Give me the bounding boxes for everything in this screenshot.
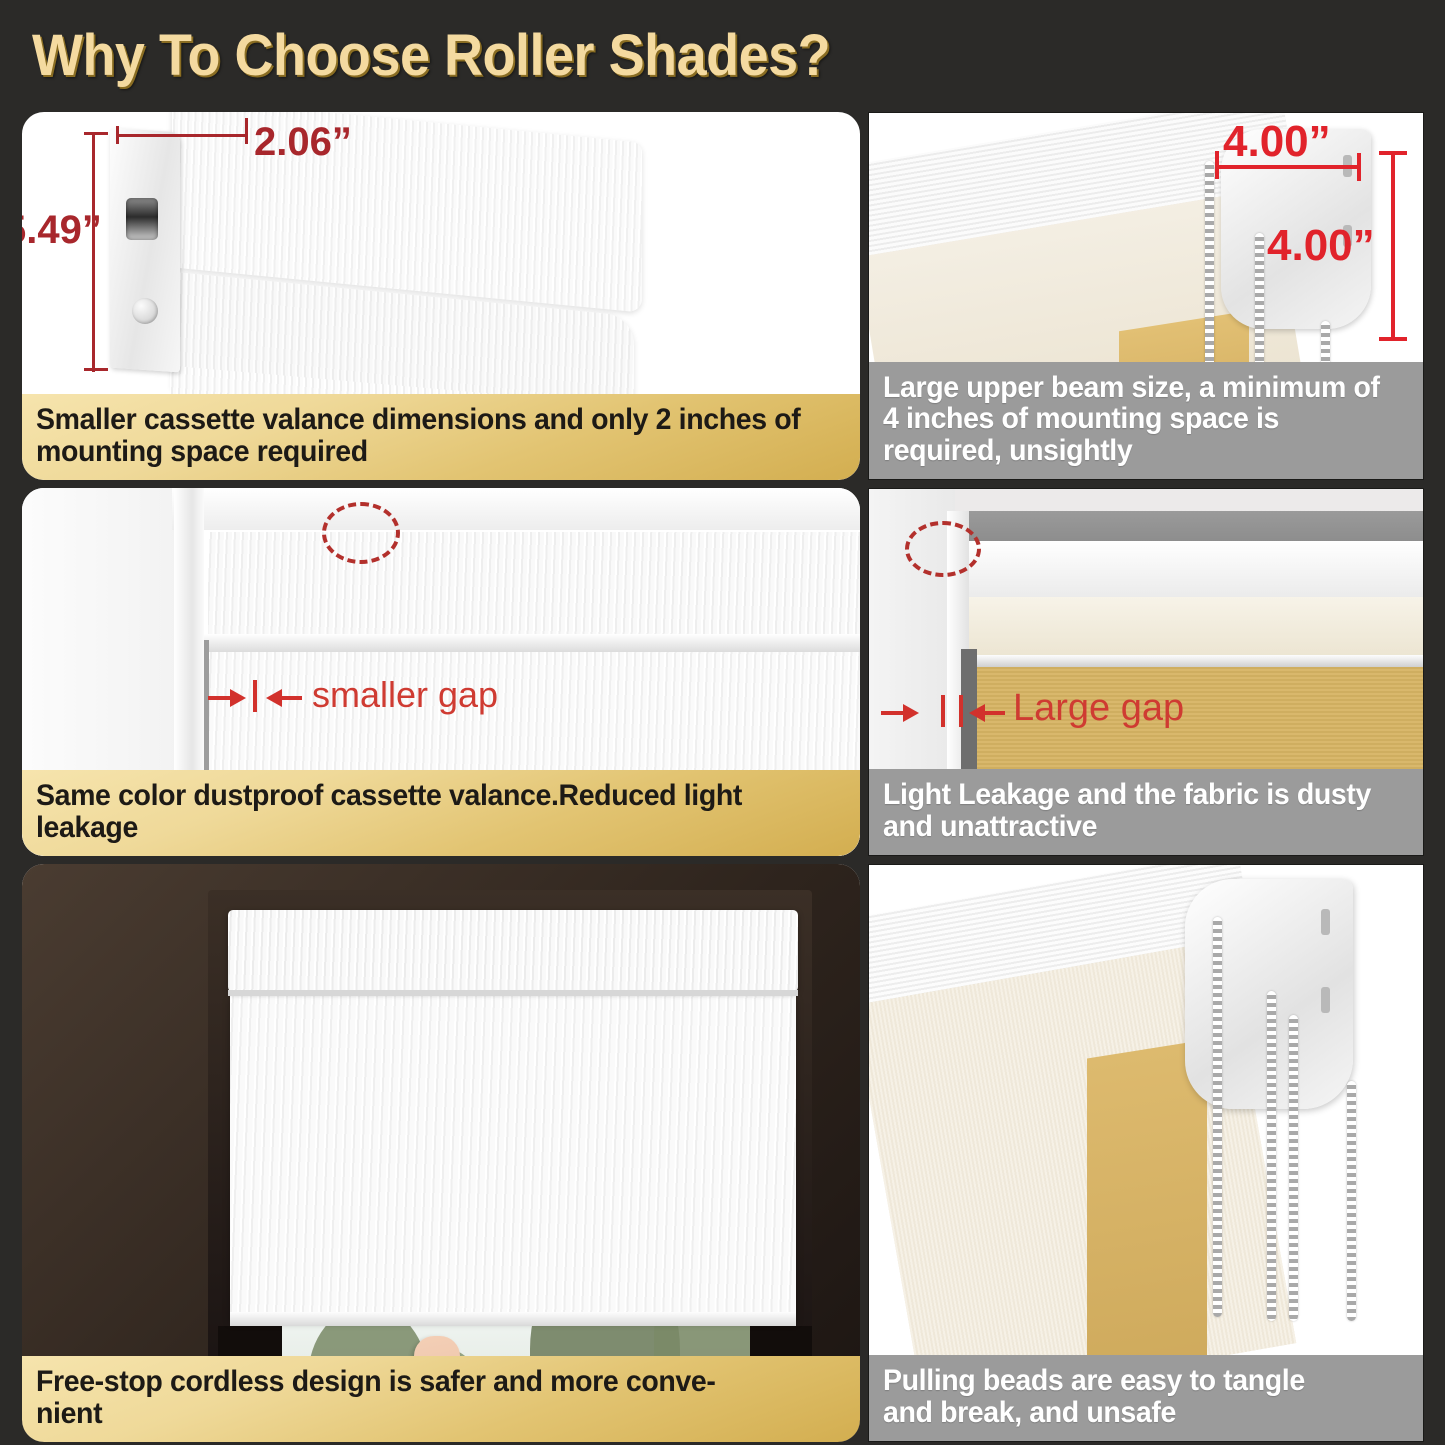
panel-3-caption: Same color dustproof cassette valance.Re…: [22, 770, 860, 856]
white-valance-band: [965, 541, 1423, 603]
width-dimension-line: [116, 134, 248, 137]
window-head-frame: [172, 488, 860, 530]
gap-marker-bar-b: [959, 695, 963, 727]
gap-arrow-right-stem: [280, 696, 302, 700]
width-dim-tick-right: [245, 118, 248, 144]
panel-5-caption-line-1: Free-stop cordless design is safer and m…: [36, 1366, 806, 1398]
gap-arrow-left-stem: [208, 696, 232, 700]
panel-light-leakage: Large gap Light Leakage and the fabric i…: [868, 488, 1424, 856]
cassette-valance-band: [208, 532, 860, 636]
panel-cordless-design: Free-stop cordless design is safer and m…: [22, 864, 860, 1442]
panel-dustproof-valance: smaller gap Same color dustproof cassett…: [22, 488, 860, 856]
page-title: Why To Choose Roller Shades?: [32, 22, 830, 89]
panel-3-caption-text: Same color dustproof cassette valance.Re…: [36, 780, 806, 844]
height-dimension-label: 5.49”: [22, 208, 102, 253]
highlight-circle-icon: [322, 502, 400, 564]
valance-rail: [204, 634, 860, 652]
panel-6-caption: Pulling beads are easy to tangle and bre…: [869, 1355, 1423, 1441]
gap-marker-bar: [253, 680, 257, 712]
comparison-grid: 2.06” 5.49” Smaller cassette valance dim…: [22, 112, 1424, 1432]
gap-marker-bar-a: [941, 695, 945, 727]
panel-2-caption: Large upper beam size, a minimum of 4 in…: [869, 362, 1423, 479]
beam-width-tick-right: [1357, 153, 1361, 181]
panel-5-caption-line-2: nient: [36, 1398, 806, 1430]
panel-6-caption-line-1: Pulling beads are easy to tangle: [883, 1365, 1383, 1397]
beam-height-tick-bottom: [1379, 337, 1407, 341]
gap-arrow-left-head: [903, 704, 919, 722]
highlight-circle-icon: [905, 521, 981, 577]
large-gap-label: Large gap: [1013, 687, 1184, 730]
bracket-screw: [132, 298, 158, 324]
bracket-notch-bottom: [1321, 987, 1330, 1013]
gap-arrow-left-stem: [881, 711, 905, 715]
panel-4-caption-text: Light Leakage and the fabric is dusty an…: [883, 779, 1383, 843]
width-dim-tick-left: [116, 126, 119, 144]
beam-width-label: 4.00”: [1223, 117, 1331, 167]
shade-bottom-hem: [230, 1312, 796, 1326]
height-dim-tick-bottom: [84, 368, 108, 371]
panel-4-caption: Light Leakage and the fabric is dusty an…: [869, 769, 1423, 855]
bracket-notch-top: [1321, 909, 1330, 935]
panel-5-illustration: [22, 864, 860, 1442]
panel-5-caption: Free-stop cordless design is safer and m…: [22, 1356, 860, 1442]
height-dim-tick-top: [84, 132, 108, 135]
panel-pulling-beads: Pulling beads are easy to tangle and bre…: [868, 864, 1424, 1442]
beam-height-tick-top: [1379, 151, 1407, 155]
mounting-bracket: [110, 128, 180, 373]
panel-smaller-cassette: 2.06” 5.49” Smaller cassette valance dim…: [22, 112, 860, 480]
cassette-seam: [228, 990, 798, 996]
cassette-valance: [228, 910, 798, 992]
gap-arrow-right-stem: [983, 711, 1005, 715]
panel-large-beam: 4.00” 4.00” Large upper beam size, a min…: [868, 112, 1424, 480]
beam-width-tick-left: [1215, 151, 1219, 179]
width-dimension-label: 2.06”: [254, 120, 352, 165]
bead-chain-3: [1289, 1015, 1298, 1321]
panel-1-caption: Smaller cassette valance dimensions and …: [22, 394, 860, 480]
beam-height-label: 4.00”: [1267, 221, 1375, 271]
bead-chain-2: [1267, 991, 1276, 1321]
smaller-gap-label: smaller gap: [312, 674, 498, 716]
gap-arrow-left-head: [230, 689, 246, 707]
panel-1-caption-text: Smaller cassette valance dimensions and …: [36, 404, 806, 468]
bracket-slot: [126, 198, 158, 240]
bead-chain-4: [1347, 1081, 1356, 1321]
panel-6-caption-line-2: and break, and unsafe: [883, 1397, 1383, 1429]
beam-height-dim-line: [1391, 151, 1395, 341]
roller-shade-fabric: [230, 996, 796, 1320]
cream-fabric-band: [969, 597, 1423, 657]
panel-2-caption-text: Large upper beam size, a minimum of 4 in…: [883, 372, 1383, 467]
bead-chain-1: [1213, 917, 1222, 1317]
bottom-rail: [969, 655, 1423, 667]
